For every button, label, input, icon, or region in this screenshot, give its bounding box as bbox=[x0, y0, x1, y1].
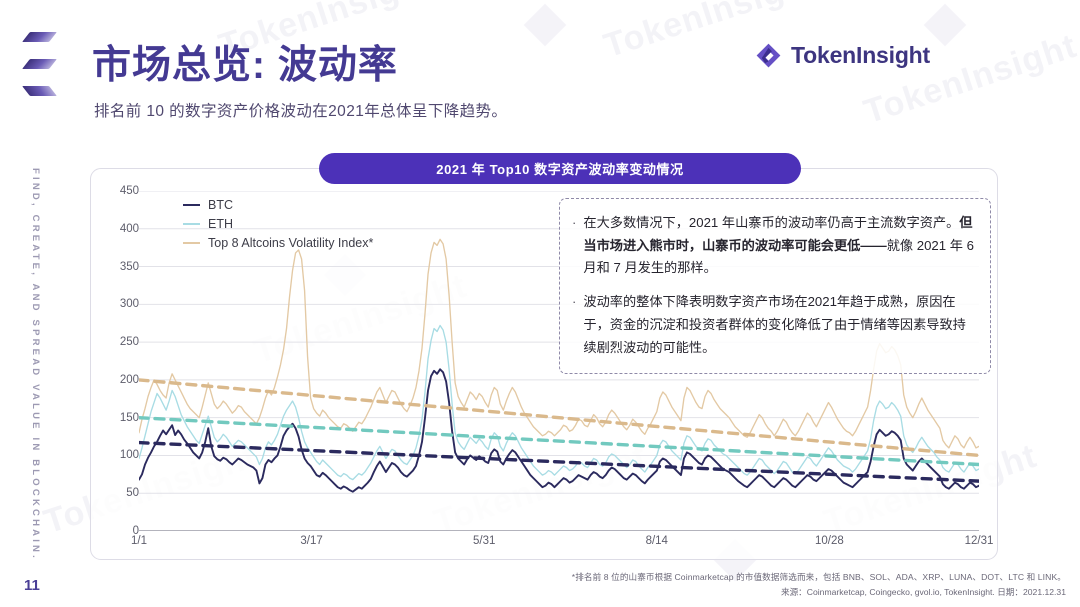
legend-item[interactable]: BTC bbox=[183, 195, 373, 214]
page-subtitle: 排名前 10 的数字资产价格波动在2021年总体呈下降趋势。 bbox=[94, 99, 507, 121]
callout-bullet: · 波动率的整体下降表明数字资产市场在2021年趋于成熟，原因在于，资金的沉淀和… bbox=[572, 291, 975, 359]
slash-mark-3 bbox=[22, 86, 57, 96]
legend-item[interactable]: Top 8 Altcoins Volatility Index* bbox=[183, 233, 373, 252]
slash-mark-2 bbox=[22, 59, 57, 69]
footnote: *排名前 8 位的山寨币根据 Coinmarketcap 的市值数据筛选而来，包… bbox=[572, 571, 1066, 583]
y-tick-label: 50 bbox=[126, 487, 139, 499]
brand-logo: TokenInsight bbox=[755, 42, 930, 69]
x-tick-label: 5/31 bbox=[473, 535, 495, 547]
y-tick-label: 150 bbox=[120, 412, 139, 424]
y-tick-label: 400 bbox=[120, 223, 139, 235]
x-tick-label: 10/28 bbox=[815, 535, 844, 547]
legend-swatch bbox=[183, 242, 200, 244]
chart-card: 2021 年 Top10 数字资产波动率变动情况 050100150200250… bbox=[90, 168, 998, 560]
watermark-diamond bbox=[524, 4, 566, 46]
bullet-dot: · bbox=[572, 291, 576, 359]
trendline-eth bbox=[139, 418, 979, 465]
y-tick-label: 450 bbox=[120, 185, 139, 197]
x-tick-label: 1/1 bbox=[131, 535, 147, 547]
chart-legend: BTCETHTop 8 Altcoins Volatility Index* bbox=[183, 195, 373, 252]
decorative-slashes bbox=[26, 32, 53, 113]
x-axis-labels: 1/13/175/318/1410/2812/31 bbox=[139, 535, 979, 553]
y-tick-label: 100 bbox=[120, 449, 139, 461]
legend-item[interactable]: ETH bbox=[183, 214, 373, 233]
chart-banner-title: 2021 年 Top10 数字资产波动率变动情况 bbox=[319, 153, 801, 184]
y-tick-label: 250 bbox=[120, 336, 139, 348]
y-tick-label: 350 bbox=[120, 261, 139, 273]
page-title: 市场总览: 波动率 bbox=[92, 34, 398, 90]
x-tick-label: 3/17 bbox=[300, 535, 322, 547]
insight-callout: · 在大多数情况下，2021 年山寨币的波动率仍高于主流数字资产。但当市场进入熊… bbox=[559, 198, 991, 374]
rail-tagline: FIND, CREATE, AND SPREAD VALUE IN BLOCKC… bbox=[30, 168, 41, 561]
callout-bullet-text: 波动率的整体下降表明数字资产市场在2021年趋于成熟，原因在于，资金的沉淀和投资… bbox=[583, 291, 975, 359]
callout-bullet: · 在大多数情况下，2021 年山寨币的波动率仍高于主流数字资产。但当市场进入熊… bbox=[572, 212, 975, 280]
page-number: 11 bbox=[24, 577, 40, 594]
y-tick-label: 300 bbox=[120, 298, 139, 310]
legend-swatch bbox=[183, 223, 200, 225]
tokeninsight-diamond-icon bbox=[755, 42, 782, 69]
y-axis-labels: 050100150200250300350400450 bbox=[105, 191, 139, 531]
slash-mark-1 bbox=[22, 32, 57, 42]
x-tick-label: 12/31 bbox=[965, 535, 994, 547]
x-tick-label: 8/14 bbox=[646, 535, 668, 547]
brand-name: TokenInsight bbox=[791, 42, 930, 69]
legend-label: BTC bbox=[208, 198, 233, 212]
legend-swatch bbox=[183, 204, 200, 206]
legend-label: Top 8 Altcoins Volatility Index* bbox=[208, 236, 373, 250]
bullet-dot: · bbox=[572, 212, 576, 280]
source-line: 来源：Coinmarketcap, Coingecko, gvol.io, To… bbox=[781, 586, 1066, 598]
watermark-diamond bbox=[924, 4, 966, 46]
callout-bullet-text: 在大多数情况下，2021 年山寨币的波动率仍高于主流数字资产。但当市场进入熊市时… bbox=[583, 212, 975, 280]
legend-label: ETH bbox=[208, 217, 233, 231]
y-tick-label: 200 bbox=[120, 374, 139, 386]
